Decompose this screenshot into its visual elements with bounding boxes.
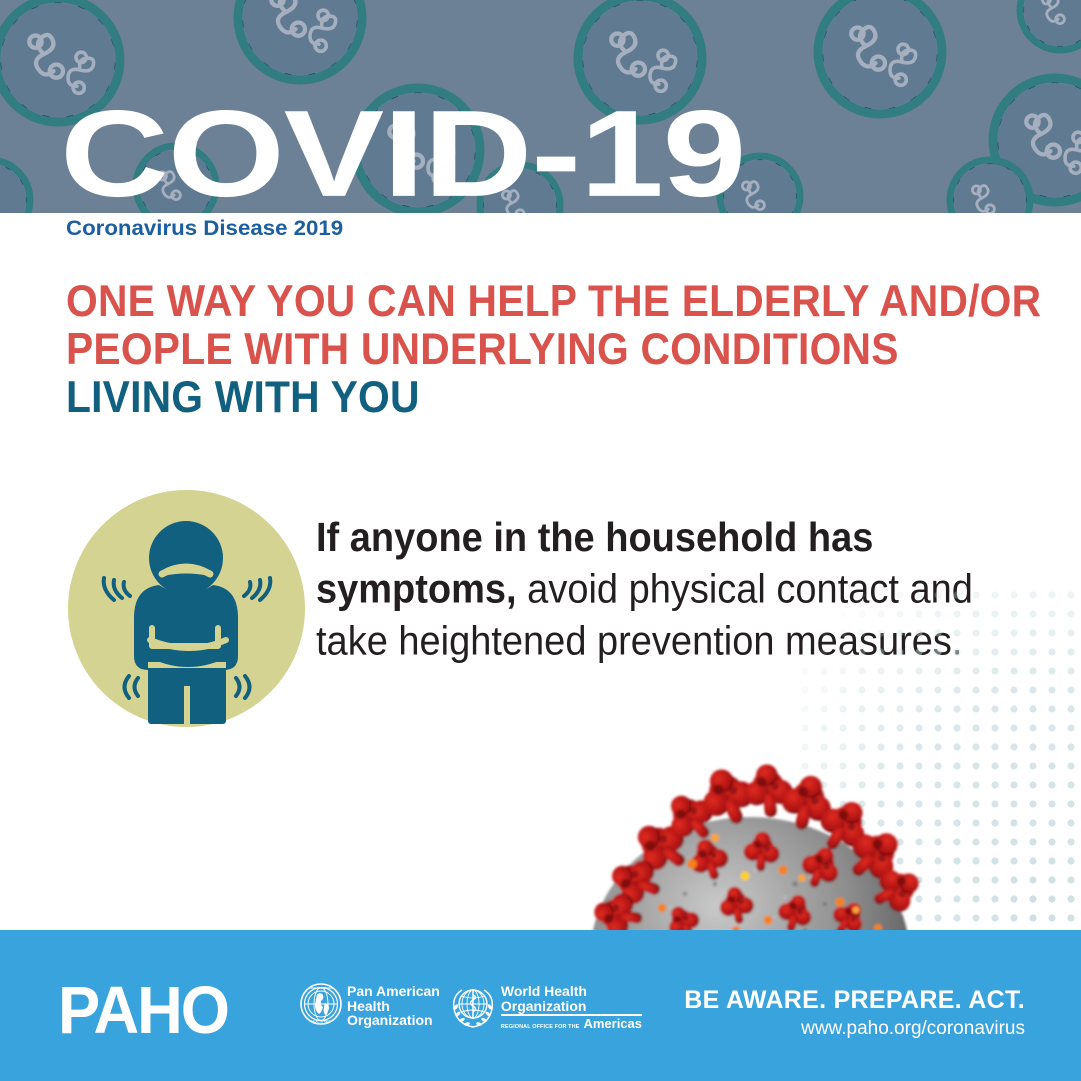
virus-particle-illustration [540,752,960,934]
who-name-line-2: Organization [501,999,642,1014]
footer-tagline: BE AWARE. PREPARE. ACT. [684,986,1025,1014]
who-emblem-group: World Health Organization REGIONAL OFFIC… [450,983,642,1031]
who-organization-block: World Health Organization REGIONAL OFFIC… [501,983,642,1031]
headline-line-3: LIVING WITH YOU [66,373,1025,422]
headline-block: ONE WAY YOU CAN HELP THE ELDERLY AND/OR … [66,277,1006,421]
covid-infographic-poster: COVID-19 Coronavirus Disease 2019 ONE WA… [0,0,1081,1081]
message-text: If anyone in the household has symptoms,… [316,512,996,668]
headline-line-1: ONE WAY YOU CAN HELP THE ELDERLY AND/OR [66,277,1025,326]
paho-emblem-group: PAN AMERICAN HEALTH ORG Pan American Hea… [300,983,440,1028]
regional-office-region: Americas [583,1017,642,1031]
regional-office-label: REGIONAL OFFICE FOR THE [501,1024,580,1031]
coronavirus-particle-photo [540,752,960,934]
svg-text:PAN AMERICAN: PAN AMERICAN [310,986,333,990]
paho-globe-icon: PAN AMERICAN HEALTH ORG [300,983,342,1025]
person-shivering-glyph [68,490,305,727]
headline-line-2: PEOPLE WITH UNDERLYING CONDITIONS [66,325,1025,374]
paho-name-line-3: Organization [347,1013,440,1028]
who-organization-name: World Health Organization [501,983,642,1013]
paho-name-line-2: Health [347,999,440,1014]
paho-organization-name: Pan American Health Organization [347,983,440,1028]
organization-lockup: PAN AMERICAN HEALTH ORG Pan American Hea… [300,983,642,1031]
regional-office-row: REGIONAL OFFICE FOR THE Americas [501,1017,642,1031]
who-emblem-icon [450,983,496,1029]
paho-wordmark: PAHO [58,978,228,1045]
page-title: COVID-19 [60,92,745,215]
page-subtitle: Coronavirus Disease 2019 [66,217,343,241]
svg-text:HEALTH ORG: HEALTH ORG [311,1019,331,1023]
paho-name-line-1: Pan American [347,984,440,999]
footer-url-link[interactable]: www.paho.org/coronavirus [801,1018,1025,1040]
who-name-line-1: World Health [501,984,642,999]
person-shivering-icon [68,490,305,727]
